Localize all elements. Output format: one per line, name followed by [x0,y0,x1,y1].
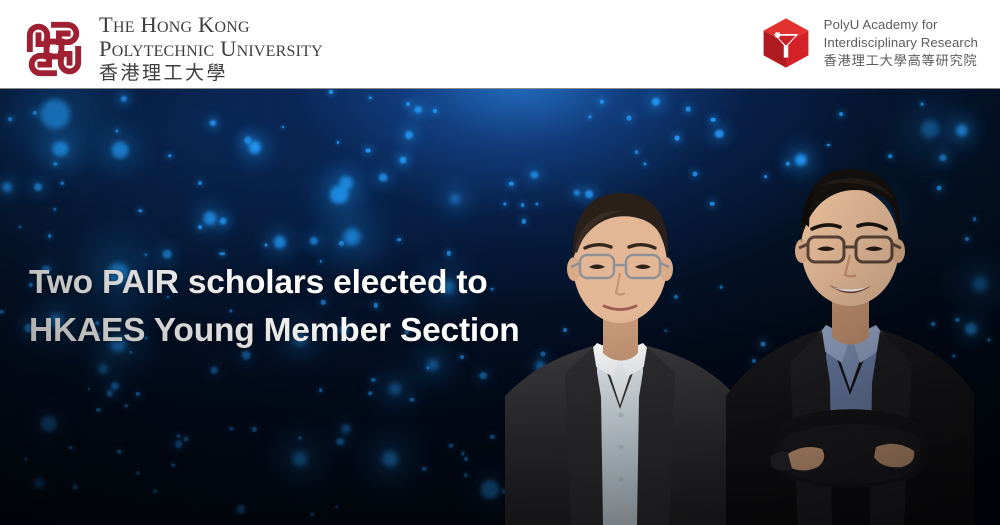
star-dot [138,209,141,212]
star-dot [53,141,68,156]
star-dot [298,436,301,439]
star-dot [337,141,339,143]
star-dot [168,154,172,158]
star-dot [9,117,13,121]
star-dot [221,252,225,256]
pair-name-line2: Interdisciplinary Research [824,34,978,52]
star-dot [406,102,410,106]
star-dot [203,212,216,225]
star-dot [69,446,72,449]
pair-wordmark: PolyU Academy for Interdisciplinary Rese… [824,16,978,69]
star-dot [172,463,176,467]
star-dot [686,106,691,111]
star-dot [184,437,189,442]
portrait-tommy-wei [726,125,974,525]
star-dot [462,452,465,455]
star-dot [449,443,454,448]
star-dot [329,90,333,94]
star-dot [282,126,284,128]
star-dot [211,367,218,374]
star-dot [987,338,990,341]
star-dot [330,185,349,204]
star-dot [40,416,56,432]
star-dot [19,226,21,228]
star-dot [422,467,426,471]
star-dot [339,241,343,245]
star-dot [490,435,494,439]
polyu-wordmark: The Hong Kong Polytechnic University 香港理… [99,13,323,84]
polyu-name-line1: The Hong Kong [99,13,323,37]
star-dot [252,427,256,431]
star-dot [177,434,180,437]
star-dot [310,513,314,517]
pair-hexagon-cube-logo-icon [758,15,814,71]
star-dot [145,253,147,255]
star-dot [379,173,388,182]
star-orb [450,194,460,204]
star-orb [427,359,439,371]
star-dot [369,96,372,99]
star-dot [626,116,631,121]
page-header: The Hong Kong Polytechnic University 香港理… [0,0,1000,89]
star-dot [34,478,44,488]
star-dot [153,489,157,493]
star-dot [341,424,350,433]
star-dot [464,474,467,477]
star-dot [107,390,113,396]
hero-banner: Two PAIR scholars elected to HKAES Young… [0,89,1000,525]
star-dot [197,181,201,185]
star-dot [34,183,42,191]
star-dot [399,157,406,164]
star-orb [40,99,70,129]
star-dot [229,427,233,431]
polyu-name-chinese: 香港理工大學 [99,64,323,85]
star-dot [675,136,680,141]
star-dot [652,97,660,105]
star-dot [447,251,451,255]
banner-headline: Two PAIR scholars elected to HKAES Young… [29,259,559,354]
star-dot [54,208,56,210]
star-orb [382,451,398,467]
star-dot [481,480,499,498]
star-dot [414,106,422,114]
pair-name-chinese: 香港理工大學高等研究院 [824,52,978,70]
star-dot [96,408,100,412]
polyu-logo-lockup[interactable]: The Hong Kong Polytechnic University 香港理… [22,13,323,84]
star-dot [136,392,140,396]
star-dot [464,457,468,461]
star-dot [365,148,370,153]
star-dot [33,111,37,115]
star-orb [344,229,361,246]
star-dot [61,182,64,185]
star-dot [600,100,604,104]
star-dot [237,505,245,513]
star-dot [840,112,844,116]
headline-line-1: Two PAIR scholars elected to [29,259,559,307]
star-dot [136,471,140,475]
polyu-name-line2: Polytechnic University [99,37,323,61]
star-dot [371,378,375,382]
pair-logo-lockup[interactable]: PolyU Academy for Interdisciplinary Rese… [758,15,978,71]
star-dot [410,397,415,402]
star-dot [335,505,339,509]
star-dot [88,388,90,390]
star-dot [310,237,318,245]
pair-name-line1: PolyU Academy for [824,16,978,34]
star-dot [210,120,216,126]
star-dot [125,404,128,407]
star-dot [111,382,119,390]
star-dot [273,236,286,249]
star-dot [73,485,78,490]
star-dot [219,218,226,225]
star-dot [99,365,108,374]
star-dot [337,438,345,446]
star-dot [54,162,57,165]
star-dot [249,141,261,153]
star-dot [460,355,464,359]
star-dot [319,388,323,392]
star-dot [0,311,3,314]
star-dot [588,115,591,118]
star-dot [397,238,401,242]
star-dot [199,225,203,229]
star-dot [433,109,437,113]
star-orb [973,277,988,292]
headline-line-2: HKAES Young Member Section [29,307,559,355]
star-dot [405,131,413,139]
star-dot [112,141,129,158]
polyu-knot-logo-icon [22,18,86,80]
star-dot [2,182,12,192]
star-dot [368,392,372,396]
star-dot [920,102,923,105]
star-dot [48,234,52,238]
star-dot [163,250,172,259]
star-dot [175,440,183,448]
star-dot [120,96,126,102]
star-dot [117,449,122,454]
star-dot [479,372,487,380]
star-orb [293,452,308,467]
star-dot [25,457,28,460]
star-dot [715,130,723,138]
promo-banner-page: The Hong Kong Polytechnic University 香港理… [0,0,1000,525]
star-dot [116,129,119,132]
star-orb [389,383,401,395]
star-dot [265,244,268,247]
star-dot [711,117,716,122]
